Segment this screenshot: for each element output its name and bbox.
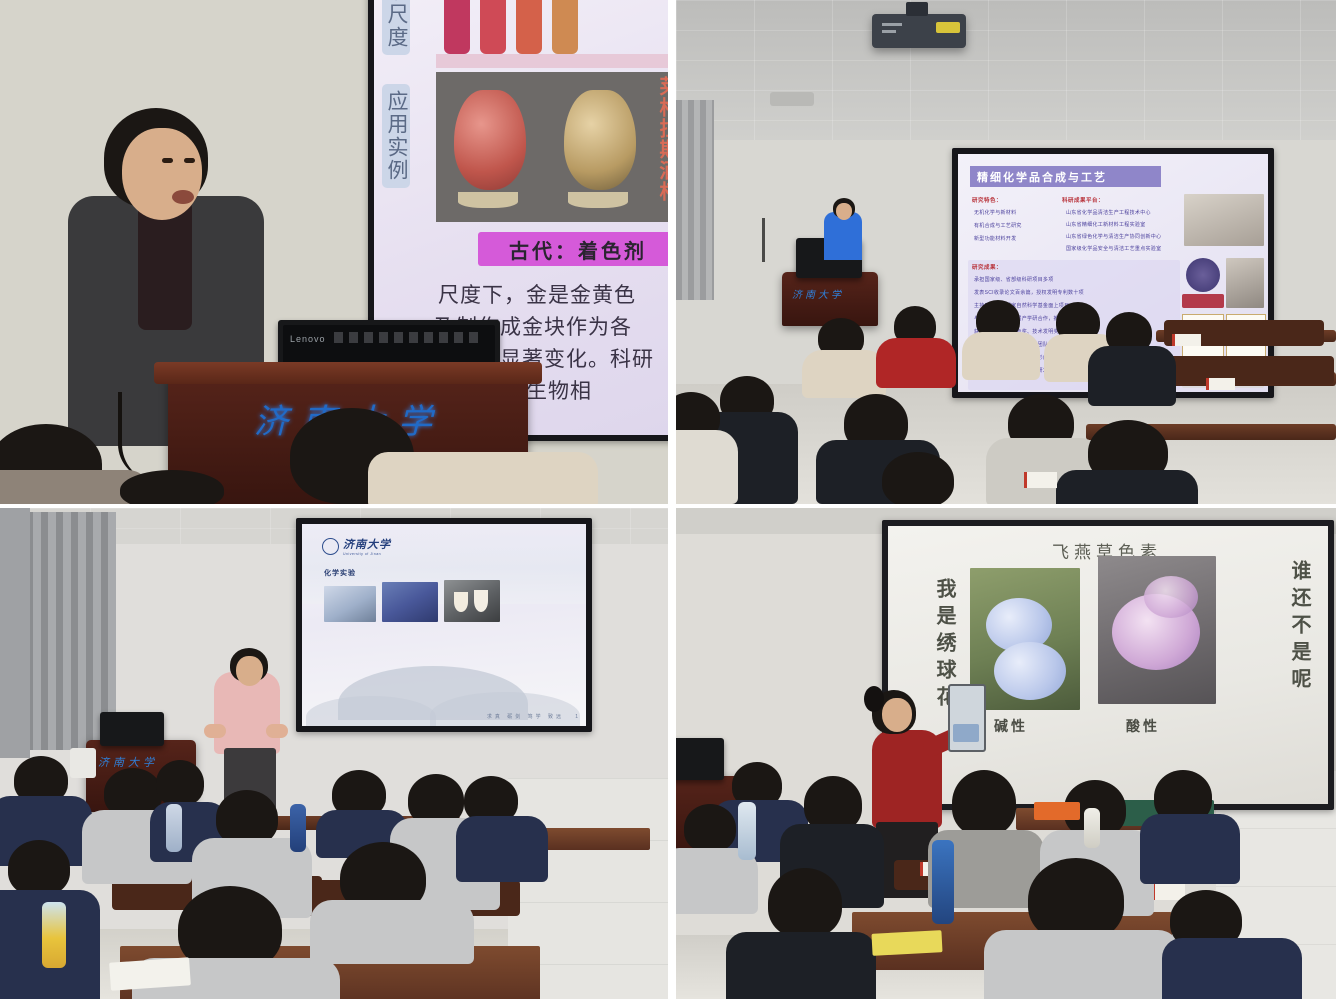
podium-logo-text: 济南大学 [792, 286, 844, 301]
panel-top-right: 精细化学品合成与工艺 研究特色： 无机化学与新材料 有机合成与工艺研究 新型功能… [676, 0, 1336, 504]
slide-bullet: 无机化学与新材料 [974, 209, 1016, 216]
audience-body [1088, 346, 1176, 406]
cup-caption: 莱格拉斯酒杯 [653, 76, 668, 202]
slide-side-tab-1: 观尺度 [382, 0, 410, 55]
slide-bullet: 有机合成与工艺研究 [974, 222, 1022, 229]
slide-column-header-left: 研究特色： [972, 196, 1002, 204]
slide-footer: 求真 砺剑 笃学 致远 [487, 713, 564, 720]
water-bottle [166, 804, 182, 852]
ceiling-fan [770, 92, 814, 106]
student-body [1140, 814, 1240, 884]
water-bottle [290, 804, 306, 852]
cable [118, 392, 174, 480]
student-body [984, 930, 1180, 999]
company-logo [1182, 294, 1224, 308]
water-bottle [42, 902, 66, 968]
projection-screen: 济南大学 University of Jinan 化学实验 求 [296, 518, 592, 732]
slide-caption-acidic: 酸性 [1126, 716, 1160, 736]
slide-page-number: 1 [575, 714, 578, 720]
equipment-box [70, 748, 96, 778]
slide-thumbnail-3 [444, 580, 500, 622]
slide-caption-alkaline: 碱性 [994, 716, 1028, 736]
achievements-header: 研究成果： [972, 263, 1002, 271]
microphone-stand [762, 218, 765, 262]
vial-shelf [436, 54, 668, 68]
window-blind [676, 100, 714, 300]
university-name: 济南大学 [343, 536, 391, 552]
lecture-podium: 济南大学 [782, 272, 878, 326]
slide-bullet: 承担国家级、省部级科研项目多项 [974, 276, 1054, 283]
slide-heading: 化学实验 [324, 568, 356, 578]
presenter-bun [864, 686, 884, 712]
photo-collage: 观尺度 应用实例 莱格拉斯酒杯 [0, 0, 1336, 1007]
panel-top-left: 观尺度 应用实例 莱格拉斯酒杯 [0, 0, 668, 504]
reagent-tray [1034, 802, 1080, 820]
university-logo: 济南大学 University of Jinan [322, 536, 391, 556]
audience-body [1056, 470, 1198, 504]
student-body [310, 900, 474, 964]
audience-body [676, 430, 738, 504]
vial-row [444, 0, 578, 54]
worksheet-paper [109, 957, 191, 991]
slide-bullet: 山东省化学品清洁生产工程技术中心 [1066, 209, 1151, 216]
hydrangea-photo-acidic [1098, 556, 1216, 704]
student-body [456, 816, 548, 882]
slide-column-header-right: 科研成果平台： [1062, 196, 1104, 204]
ceiling [676, 0, 1336, 140]
seal-icon [322, 538, 339, 555]
audience-head [882, 452, 954, 504]
slide-right-vertical-text: 谁还不是呢 [1285, 560, 1314, 695]
university-name-en: University of Jinan [343, 552, 391, 556]
slide-surface: 济南大学 University of Jinan 化学实验 求 [302, 524, 586, 726]
slide-body-line-1: 尺度下，金是金黄色 [438, 280, 636, 312]
ancient-colorant-banner: 古代：着色剂 [478, 232, 668, 266]
presenter-face [836, 203, 852, 220]
laptop-brand-label: Lenovo [290, 334, 326, 344]
slide-bullet: 新型功能材料开发 [974, 235, 1016, 242]
notebook [871, 930, 942, 956]
panel-bottom-left: 济南大学 University of Jinan 化学实验 求 [0, 508, 668, 999]
hydrangea-photo-alkaline [970, 568, 1080, 710]
student-head [768, 868, 842, 938]
student-head [156, 760, 204, 806]
panel-bottom-right: 飞燕草色素 我是绣球花 谁还不是呢 碱性 酸性 [676, 508, 1336, 999]
student-body [1162, 938, 1302, 999]
handheld-tablet[interactable] [948, 684, 986, 752]
audience-body [876, 338, 956, 388]
audience-shoulder [368, 452, 598, 504]
slide-bullet: 发表SCI收录论文百余篇，授权发明专利数十项 [974, 289, 1084, 296]
slide-title: 精细化学品合成与工艺 [970, 166, 1161, 187]
student-body [726, 932, 876, 999]
audience-body [802, 350, 886, 398]
slide-bullet: 山东省精细化工新材料工程实验室 [1066, 221, 1146, 228]
student-head [684, 804, 736, 852]
presenter-hand [204, 724, 226, 738]
desk-tag [1024, 472, 1057, 488]
desk-tag [1206, 378, 1235, 390]
lab-photo-2 [1226, 258, 1264, 308]
slide-thumbnail-2 [382, 582, 438, 622]
slide-surface: 飞燕草色素 我是绣球花 谁还不是呢 碱性 酸性 [888, 526, 1328, 804]
presenter-face [236, 656, 263, 686]
student-head [8, 840, 70, 896]
company-logo [1186, 258, 1220, 292]
slide-bullet: 国家级化学品安全与清洁工艺重点实验室 [1066, 245, 1161, 252]
student-head [952, 770, 1016, 836]
presenter-face [122, 128, 202, 220]
water-bottle [932, 840, 954, 924]
podium-monitor[interactable] [676, 738, 724, 780]
presenter-face [882, 698, 912, 732]
water-bottle [1084, 808, 1100, 848]
ceiling-projector [872, 14, 966, 48]
window-curtain-edge [0, 508, 30, 758]
lab-photo-1 [1184, 194, 1264, 246]
projection-screen: 飞燕草色素 我是绣球花 谁还不是呢 碱性 酸性 [882, 520, 1334, 810]
water-bottle [738, 802, 756, 860]
lycurgus-cup-image: 莱格拉斯酒杯 [436, 72, 668, 222]
slide-bullet: 山东省绿色化学与清洁生产协同创新中心 [1066, 233, 1161, 240]
audience-head [120, 470, 224, 504]
desk-tag [1172, 334, 1201, 346]
audience-body [962, 332, 1040, 380]
podium-laptop[interactable] [100, 712, 164, 746]
presenter-hand [266, 724, 288, 738]
slide-thumbnail-1 [324, 586, 376, 622]
slide-side-tab-2: 应用实例 [382, 84, 410, 188]
